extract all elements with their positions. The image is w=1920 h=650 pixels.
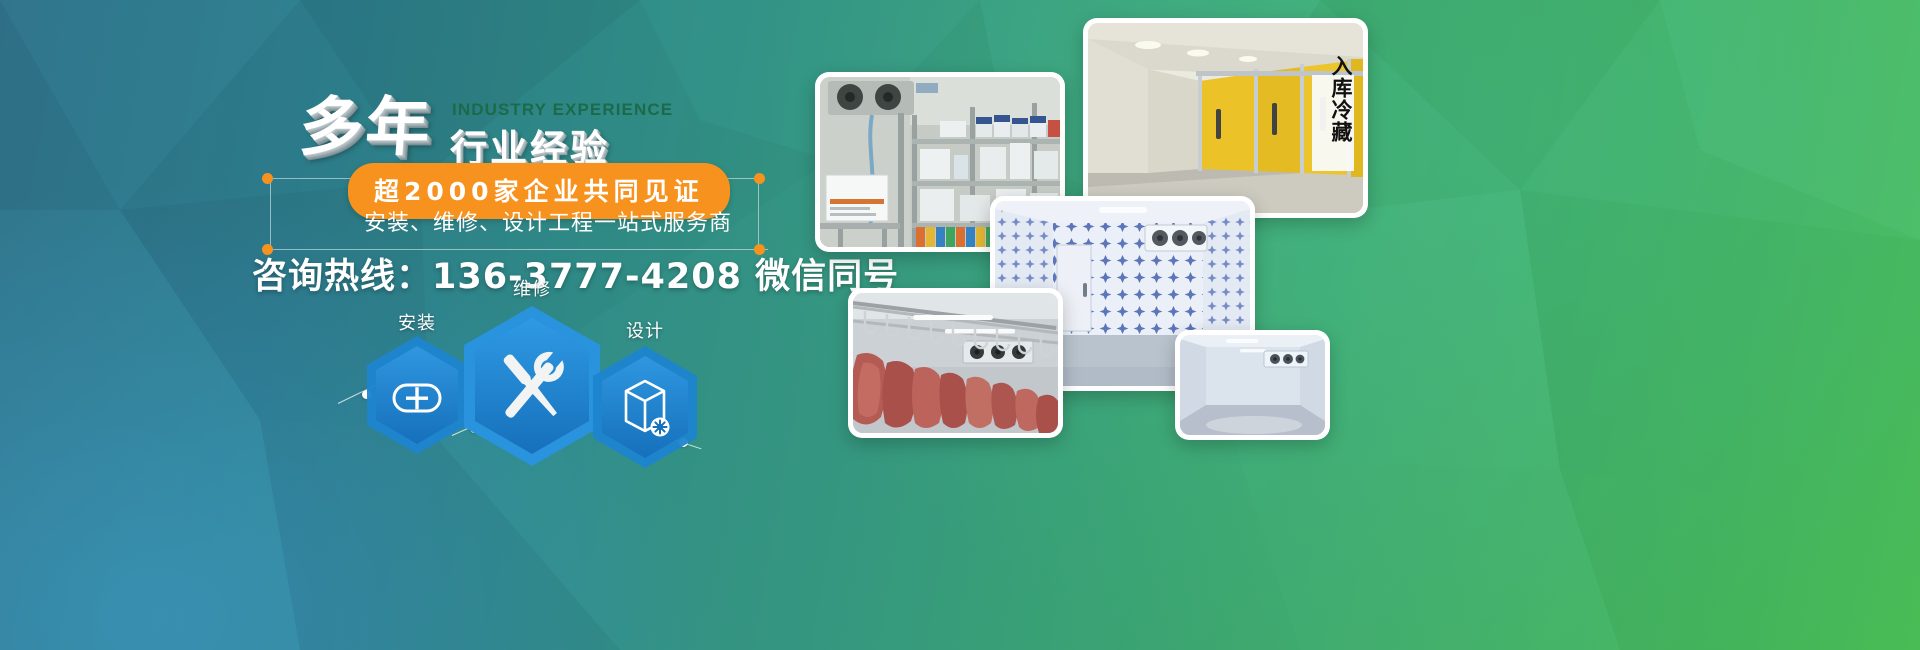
bracket-dot-top-right xyxy=(754,173,765,184)
banner-text-block: 多年 INDUSTRY EXPERIENCE 行业经验 超2000家企业共同见证… xyxy=(0,0,820,650)
headline-group: 多年 INDUSTRY EXPERIENCE 行业经验 xyxy=(300,82,820,162)
bracket-line-right xyxy=(758,178,759,250)
service-label-design: 设计 xyxy=(575,317,715,343)
headline-english: INDUSTRY EXPERIENCE xyxy=(452,100,673,120)
photo-small-cold-room[interactable] xyxy=(1175,330,1330,440)
service-hex-install[interactable]: 安装 xyxy=(362,333,472,457)
bracket-line-left xyxy=(270,178,271,250)
photo-collage: 入库冷藏 xyxy=(800,0,1920,650)
service-label-repair: 维修 xyxy=(462,275,602,301)
service-hex-row: 安装 维修 xyxy=(330,295,720,465)
photo-5-content xyxy=(1180,335,1325,435)
plus-badge-icon xyxy=(362,333,472,457)
service-hex-design[interactable]: 设计 xyxy=(588,343,702,471)
witness-badge-label: 超2000家企业共同见证 xyxy=(374,177,704,206)
photo-2-content xyxy=(1088,23,1363,213)
photo-cold-storage-corridor[interactable]: 入库冷藏 xyxy=(1083,18,1368,218)
photo-4-content xyxy=(853,293,1058,433)
photo-meat-hanging-room[interactable] xyxy=(848,288,1063,438)
door-sign-label: 入库冷藏 xyxy=(1328,55,1353,143)
headline-cn: 多年 xyxy=(297,76,435,168)
3d-box-icon xyxy=(588,343,702,471)
bracket-dot-top-left xyxy=(262,173,273,184)
promo-banner: 多年 INDUSTRY EXPERIENCE 行业经验 超2000家企业共同见证… xyxy=(0,0,1920,650)
service-tagline: 安装、维修、设计工程一站式服务商 xyxy=(364,205,732,237)
